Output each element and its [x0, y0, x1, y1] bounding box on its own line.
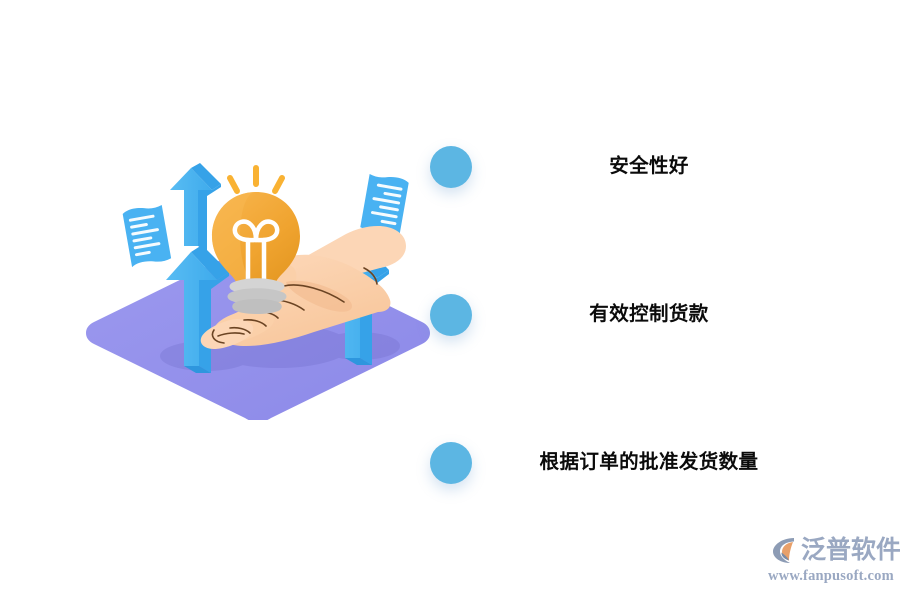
brand-url: www.fanpusoft.com	[768, 569, 892, 584]
bullet-label: 安全性好	[472, 157, 850, 177]
bullet-item-approved-shipment-quantity[interactable]: 根据订单的批准发货数量	[430, 441, 850, 485]
brand-name: 泛普软件	[801, 538, 900, 563]
bullet-dot-icon	[430, 442, 472, 484]
feature-bullet-list: 安全性好 有效控制货款 根据订单的批准发货数量	[430, 128, 850, 503]
bullet-label: 根据订单的批准发货数量	[472, 453, 850, 473]
hero-illustration	[78, 160, 438, 420]
fanpu-c-leaf-logo-icon	[768, 534, 800, 566]
screenshot-canvas: 安全性好 有效控制货款 根据订单的批准发货数量 泛普软件 www.fanpuso…	[0, 0, 900, 600]
bullet-item-security[interactable]: 安全性好	[430, 145, 850, 189]
bullet-dot-icon	[430, 146, 472, 188]
bullet-item-payment-control[interactable]: 有效控制货款	[430, 293, 850, 337]
bullet-dot-icon	[430, 294, 472, 336]
brand-watermark: 泛普软件 www.fanpusoft.com	[768, 533, 892, 589]
lightbulb-rays	[230, 168, 282, 191]
brand-lockup: 泛普软件	[768, 533, 892, 567]
blue-document-left	[122, 204, 171, 267]
bullet-label: 有效控制货款	[472, 305, 850, 325]
bulb-base	[228, 278, 287, 314]
